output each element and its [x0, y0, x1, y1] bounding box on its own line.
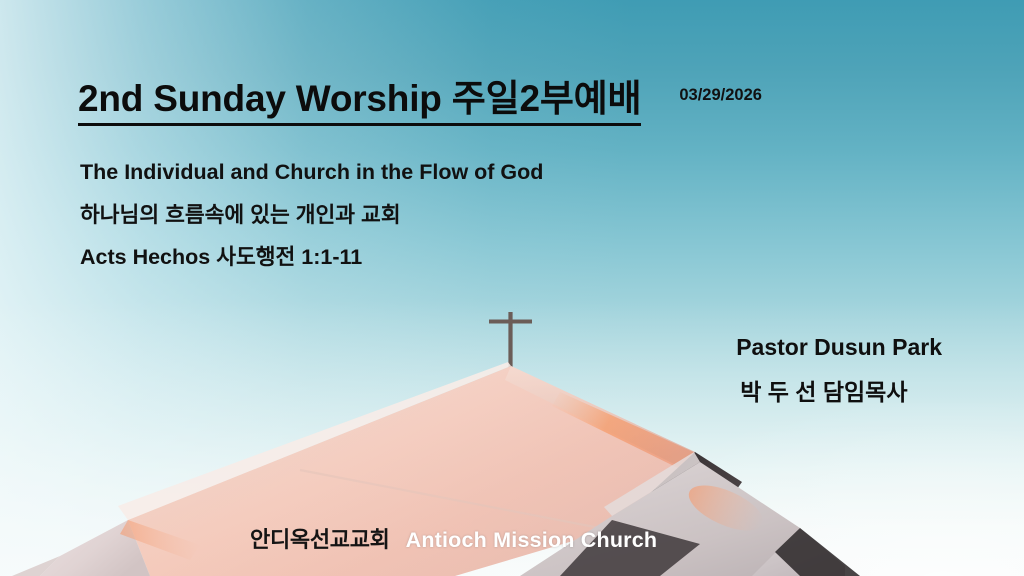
scripture-reference: Acts Hechos 사도행전 1:1-11 — [80, 247, 543, 269]
service-date: 03/29/2026 — [679, 86, 762, 105]
worship-slide: 2nd Sunday Worship 주일2부예배 03/29/2026 The… — [0, 0, 1024, 576]
sermon-block: The Individual and Church in the Flow of… — [80, 162, 543, 269]
church-name-english: Antioch Mission Church — [406, 528, 658, 553]
sermon-title-english: The Individual and Church in the Flow of… — [80, 162, 543, 184]
pastor-block: Pastor Dusun Park 박 두 선 담임목사 — [736, 336, 942, 404]
sermon-title-korean: 하나님의 흐름속에 있는 개인과 교회 — [80, 205, 543, 227]
title-row: 2nd Sunday Worship 주일2부예배 03/29/2026 — [78, 78, 762, 126]
page-title: 2nd Sunday Worship 주일2부예배 — [78, 78, 641, 126]
pastor-name-english: Pastor Dusun Park — [736, 336, 942, 359]
church-name-block: 안디옥선교교회 Antioch Mission Church — [250, 522, 657, 554]
church-name-korean: 안디옥선교교회 — [250, 522, 390, 554]
pastor-name-korean: 박 두 선 담임목사 — [740, 381, 942, 404]
text-layer: 2nd Sunday Worship 주일2부예배 03/29/2026 The… — [0, 0, 1024, 576]
